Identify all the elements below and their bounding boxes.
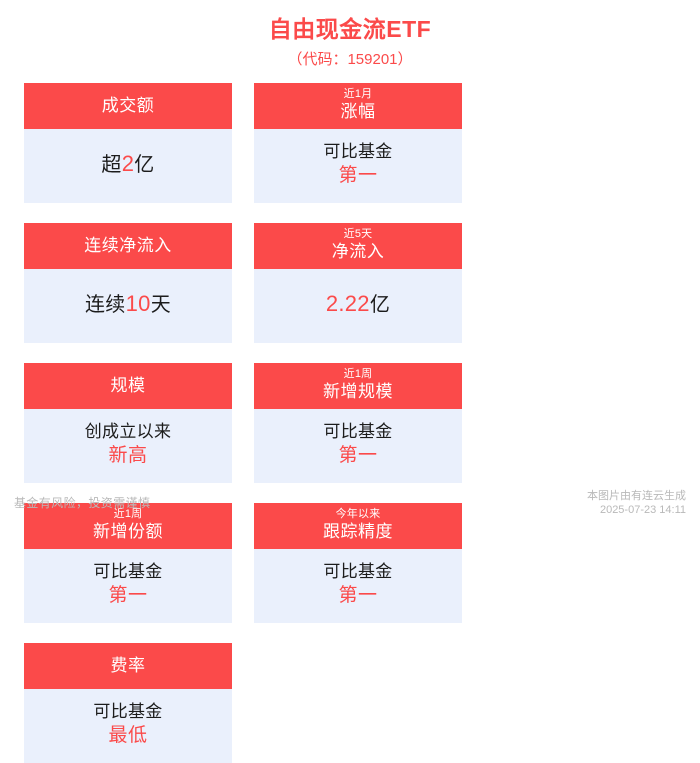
metric-value-suffix: 亿 xyxy=(134,154,154,176)
metric-card: 近1周新增规模可比基金第一 xyxy=(254,363,462,483)
etf-infographic-page: { "header": { "title": "自由现金流ETF", "subt… xyxy=(0,0,700,524)
metric-card-title: 新增份额 xyxy=(93,521,163,543)
metric-card-body: 可比基金第一 xyxy=(24,549,232,623)
metric-card: 连续净流入连续10天 xyxy=(24,223,232,343)
metric-card: 规模创成立以来新高 xyxy=(24,363,232,483)
metric-card-header: 费率 xyxy=(24,643,232,689)
metric-card-header: 规模 xyxy=(24,363,232,409)
metric-card-grid: 成交额超2亿近1月涨幅可比基金第一连续净流入连续10天近5天净流入2.22亿规模… xyxy=(12,72,688,763)
metric-value-highlight: 第一 xyxy=(338,583,377,608)
metric-value-highlight: 最低 xyxy=(108,723,147,748)
metric-card-header: 连续净流入 xyxy=(24,223,232,269)
metric-card-body: 可比基金第一 xyxy=(254,129,462,203)
credit-source: 本图片由有连云生成 xyxy=(587,489,686,503)
credit-timestamp: 2025-07-23 14:11 xyxy=(587,503,686,517)
metric-value-suffix: 天 xyxy=(151,294,171,316)
metric-card-title: 净流入 xyxy=(332,241,385,263)
metric-card: 成交额超2亿 xyxy=(24,83,232,203)
image-credit: 本图片由有连云生成 2025-07-23 14:11 xyxy=(587,489,686,517)
metric-card-body: 可比基金第一 xyxy=(254,409,462,483)
metric-value-single: 超2亿 xyxy=(101,151,154,178)
metric-card-body: 超2亿 xyxy=(24,129,232,203)
metric-value-highlight: 第一 xyxy=(338,163,377,188)
metric-value-number: 10 xyxy=(126,291,151,316)
metric-value-number: 2 xyxy=(122,151,135,176)
metric-value-suffix: 亿 xyxy=(370,294,390,316)
metric-card: 费率可比基金最低 xyxy=(24,643,232,763)
metric-value-primary: 可比基金 xyxy=(323,140,392,163)
metric-value-primary: 可比基金 xyxy=(93,700,162,723)
metric-card-title: 新增规模 xyxy=(323,381,393,403)
metric-value-highlight: 第一 xyxy=(108,583,147,608)
metric-value-primary: 创成立以来 xyxy=(85,420,172,443)
metric-card-body: 连续10天 xyxy=(24,269,232,343)
metric-value-highlight: 第一 xyxy=(338,443,377,468)
metric-card-body: 可比基金第一 xyxy=(254,549,462,623)
metric-value-single: 2.22亿 xyxy=(326,291,390,318)
metric-value-prefix: 连续 xyxy=(85,294,126,316)
title-block: 自由现金流ETF （代码：159201） xyxy=(0,0,700,72)
metric-card-title: 费率 xyxy=(111,655,146,677)
metric-value-primary: 可比基金 xyxy=(323,560,392,583)
metric-card-body: 2.22亿 xyxy=(254,269,462,343)
metric-value-prefix: 超 xyxy=(101,154,121,176)
metric-card-period: 近1周 xyxy=(344,368,373,381)
metric-card-header: 近1周新增规模 xyxy=(254,363,462,409)
metric-card-header: 近1月涨幅 xyxy=(254,83,462,129)
metric-card-title: 成交额 xyxy=(102,95,155,117)
metric-card: 近5天净流入2.22亿 xyxy=(254,223,462,343)
metric-value-highlight: 新高 xyxy=(108,443,147,468)
metric-value-number: 2.22 xyxy=(326,291,370,316)
metric-card-body: 创成立以来新高 xyxy=(24,409,232,483)
fund-code-subtitle: （代码：159201） xyxy=(0,48,700,72)
metric-card-period: 近5天 xyxy=(344,228,373,241)
metric-card-body: 可比基金最低 xyxy=(24,689,232,763)
footer: 基金有风险，投资需谨慎 本图片由有连云生成 2025-07-23 14:11 xyxy=(0,482,700,524)
metric-card-title: 规模 xyxy=(111,375,146,397)
metric-card-header: 近5天净流入 xyxy=(254,223,462,269)
metric-value-primary: 可比基金 xyxy=(93,560,162,583)
metric-card-header: 成交额 xyxy=(24,83,232,129)
metric-card: 近1月涨幅可比基金第一 xyxy=(254,83,462,203)
page-title: 自由现金流ETF xyxy=(0,14,700,44)
metric-card-period: 近1月 xyxy=(344,88,373,101)
metric-card-title: 跟踪精度 xyxy=(323,521,393,543)
metric-card-title: 涨幅 xyxy=(341,101,376,123)
metric-value-primary: 可比基金 xyxy=(323,420,392,443)
metric-card-title: 连续净流入 xyxy=(84,235,172,257)
risk-disclaimer: 基金有风险，投资需谨慎 xyxy=(14,495,150,511)
metric-value-single: 连续10天 xyxy=(85,291,171,318)
